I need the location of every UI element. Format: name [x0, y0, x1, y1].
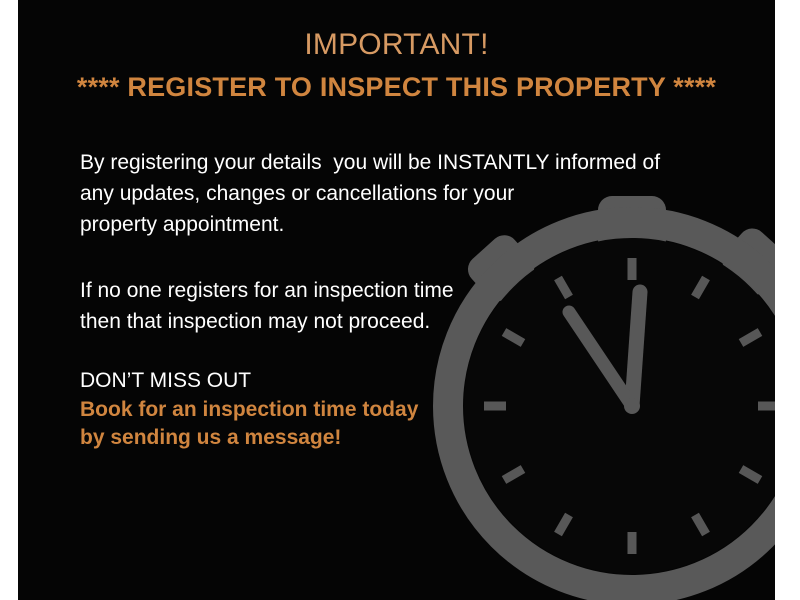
cta-send-message: by sending us a message!: [80, 424, 740, 452]
poster-canvas: IMPORTANT! **** REGISTER TO INSPECT THIS…: [0, 0, 800, 600]
poster-background: IMPORTANT! **** REGISTER TO INSPECT THIS…: [18, 0, 775, 600]
headline-important: IMPORTANT!: [18, 26, 775, 64]
cta-dont-miss-out: DON’T MISS OUT: [80, 365, 740, 396]
paragraph-2-line-1: If no one registers for an inspection ti…: [80, 275, 740, 306]
paragraph-registering-details: By registering your details you will be …: [80, 147, 740, 240]
cta-book-inspection: Book for an inspection time today: [80, 396, 740, 424]
headline-register: **** REGISTER TO INSPECT THIS PROPERTY *…: [18, 70, 775, 104]
paragraph-1-line-3: property appointment.: [80, 209, 740, 240]
paragraph-2-line-2: then that inspection may not proceed.: [80, 306, 740, 337]
paragraph-1-line-2: any updates, changes or cancellations fo…: [80, 178, 740, 209]
paragraph-1-line-1: By registering your details you will be …: [80, 147, 740, 178]
paragraph-no-registration-warning: If no one registers for an inspection ti…: [80, 275, 740, 337]
headline-block: IMPORTANT! **** REGISTER TO INSPECT THIS…: [18, 26, 775, 104]
poster-content: IMPORTANT! **** REGISTER TO INSPECT THIS…: [18, 0, 775, 600]
call-to-action-block: DON’T MISS OUT Book for an inspection ti…: [80, 365, 740, 452]
